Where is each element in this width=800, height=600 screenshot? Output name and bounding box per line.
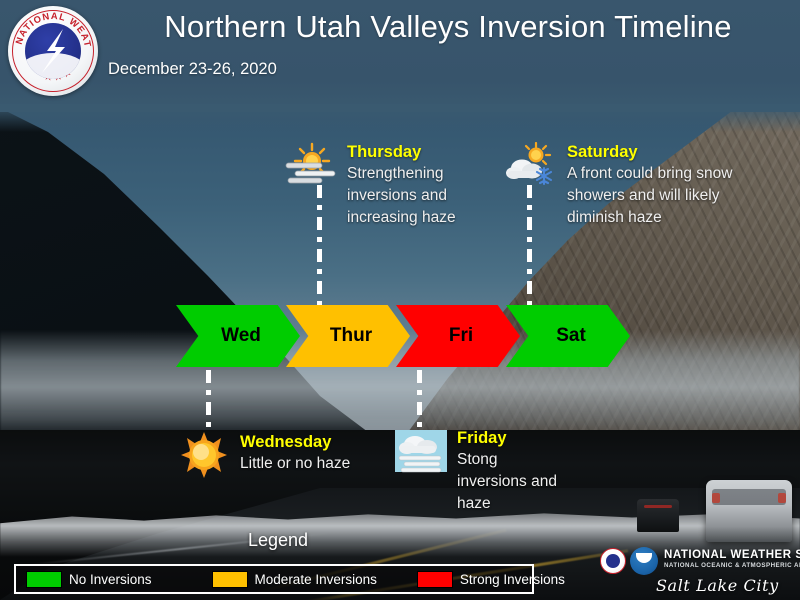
background-white-vehicle <box>706 480 792 542</box>
annotation-description: Little or no haze <box>240 453 350 475</box>
legend-label: Strong Inversions <box>460 572 565 587</box>
nws-seal-small-icon <box>600 548 626 574</box>
annotation-text: Friday Stong inversions and haze <box>457 428 570 515</box>
legend-swatch <box>212 571 248 588</box>
annotation-description: Stong inversions and haze <box>457 449 570 515</box>
annotation-description: Strengthening inversions and increasing … <box>347 163 515 229</box>
legend-item-moderate-inversions: Moderate Inversions <box>202 566 377 592</box>
connector-saturday <box>527 185 532 305</box>
annotation-text: Thursday Strengthening inversions and in… <box>347 142 515 229</box>
connector-thursday <box>317 185 322 305</box>
annotation-day: Thursday <box>347 142 515 163</box>
sun-cloud-snow-icon <box>505 142 557 188</box>
annotation-day: Wednesday <box>240 432 350 453</box>
sun-icon <box>178 432 230 478</box>
legend-swatch <box>26 571 62 588</box>
nws-branding: NATIONAL WEATHER SERVICE NATIONAL OCEANI… <box>600 546 796 596</box>
timeline-step-label: Wed <box>221 325 261 347</box>
annotation-description: A front could bring snow showers and wil… <box>567 163 750 229</box>
sun-behind-haze-icon <box>285 142 337 188</box>
inversion-timeline-infographic: NATIONAL WEATHER SERVICE ★ ★ ★ Northern … <box>0 0 800 600</box>
timeline-step-label: Fri <box>449 325 473 347</box>
vehicle-taillight-right <box>778 493 786 503</box>
office-name: Salt Lake City <box>656 576 779 595</box>
annotation-day: Friday <box>457 428 570 449</box>
legend-item-strong-inversions: Strong Inversions <box>407 566 565 592</box>
page-title: Northern Utah Valleys Inversion Timeline <box>112 8 784 46</box>
background-dark-vehicle <box>637 499 679 532</box>
annotation-text: Saturday A front could bring snow shower… <box>567 142 750 229</box>
agency-name: NATIONAL WEATHER SERVICE <box>664 549 800 561</box>
connector-friday <box>417 370 422 428</box>
cloud-haze-icon <box>395 428 447 474</box>
national-weather-service-seal-icon: NATIONAL WEATHER SERVICE ★ ★ ★ <box>8 6 98 96</box>
seal-disc <box>25 23 81 79</box>
vehicle-taillight-left <box>712 493 720 503</box>
administration-name: NATIONAL OCEANIC & ATMOSPHERIC ADMINISTR… <box>664 562 800 569</box>
legend-swatch <box>417 571 453 588</box>
timeline-step-label: Sat <box>556 325 586 347</box>
noaa-logo-icon <box>630 547 658 575</box>
connector-wednesday <box>206 370 211 434</box>
timeline-step-label: Thur <box>330 325 372 347</box>
legend-label: Moderate Inversions <box>255 572 377 587</box>
legend-label: No Inversions <box>69 572 152 587</box>
legend-item-no-inversions: No Inversions <box>16 566 152 592</box>
legend-box: No Inversions Moderate Inversions Strong… <box>14 564 534 594</box>
annotation-day: Saturday <box>567 142 750 163</box>
date-range: December 23-26, 2020 <box>108 60 277 79</box>
header-fade <box>0 104 800 132</box>
legend-title: Legend <box>248 530 308 551</box>
annotation-text: Wednesday Little or no haze <box>240 432 350 475</box>
